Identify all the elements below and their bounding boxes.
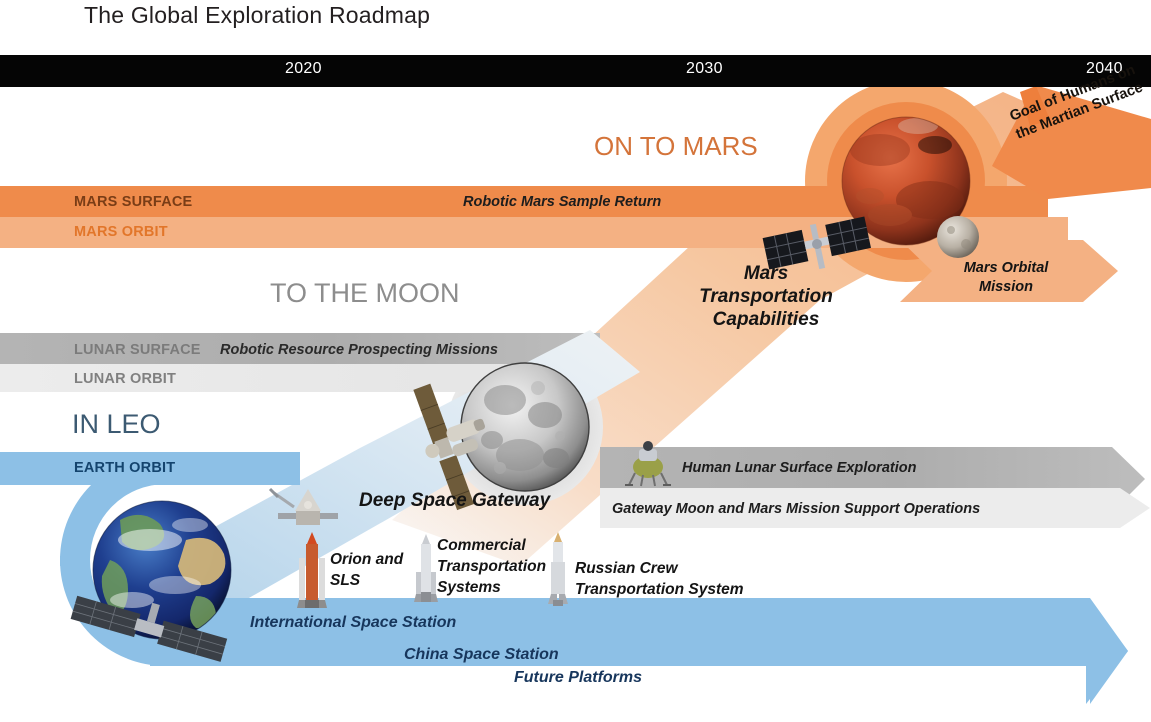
band-label-lunar-orbit: LUNAR ORBIT [74, 371, 176, 387]
callout-mars-orbital-mission: Mars Orbital Mission [936, 259, 1076, 297]
mission-robotic-resource-prospecting: Robotic Resource Prospecting Missions [220, 342, 498, 358]
section-heading-moon: TO THE MOON [270, 278, 460, 309]
platform-international-space-station: International Space Station [250, 614, 456, 632]
roadmap-artwork [0, 0, 1151, 722]
mission-human-lunar-surface-exploration: Human Lunar Surface Exploration [682, 460, 916, 476]
band-label-earth-orbit: EARTH ORBIT [74, 460, 175, 476]
timeline-bar [0, 55, 1151, 87]
band-label-lunar-surface: LUNAR SURFACE [74, 342, 201, 358]
vehicle-russian-crew-transportation-system: Russian Crew Transportation System [575, 558, 755, 600]
platform-future-platforms: Future Platforms [514, 669, 642, 687]
timeline-year-2030: 2030 [686, 60, 723, 78]
timeline-year-2020: 2020 [285, 60, 322, 78]
mars-moon-icon [937, 216, 979, 258]
band-label-mars-orbit: MARS ORBIT [74, 224, 168, 240]
section-heading-mars: ON TO MARS [594, 131, 758, 162]
vehicle-commercial-transportation-systems: Commercial Transportation Systems [437, 535, 567, 598]
callout-deep-space-gateway: Deep Space Gateway [359, 490, 550, 512]
mission-robotic-mars-sample-return: Robotic Mars Sample Return [463, 194, 661, 210]
callout-mars-transportation-capabilities: Mars Transportation Capabilities [686, 262, 846, 331]
platform-china-space-station: China Space Station [404, 646, 559, 664]
section-heading-leo: IN LEO [72, 409, 161, 440]
page-title: The Global Exploration Roadmap [84, 2, 430, 29]
vehicle-orion-sls: Orion and SLS [330, 549, 420, 591]
global-exploration-roadmap: The Global Exploration Roadmap 2020 2030… [0, 0, 1151, 722]
band-label-mars-surface: MARS SURFACE [74, 194, 192, 210]
mission-gateway-moon-mars-support: Gateway Moon and Mars Mission Support Op… [612, 501, 980, 517]
